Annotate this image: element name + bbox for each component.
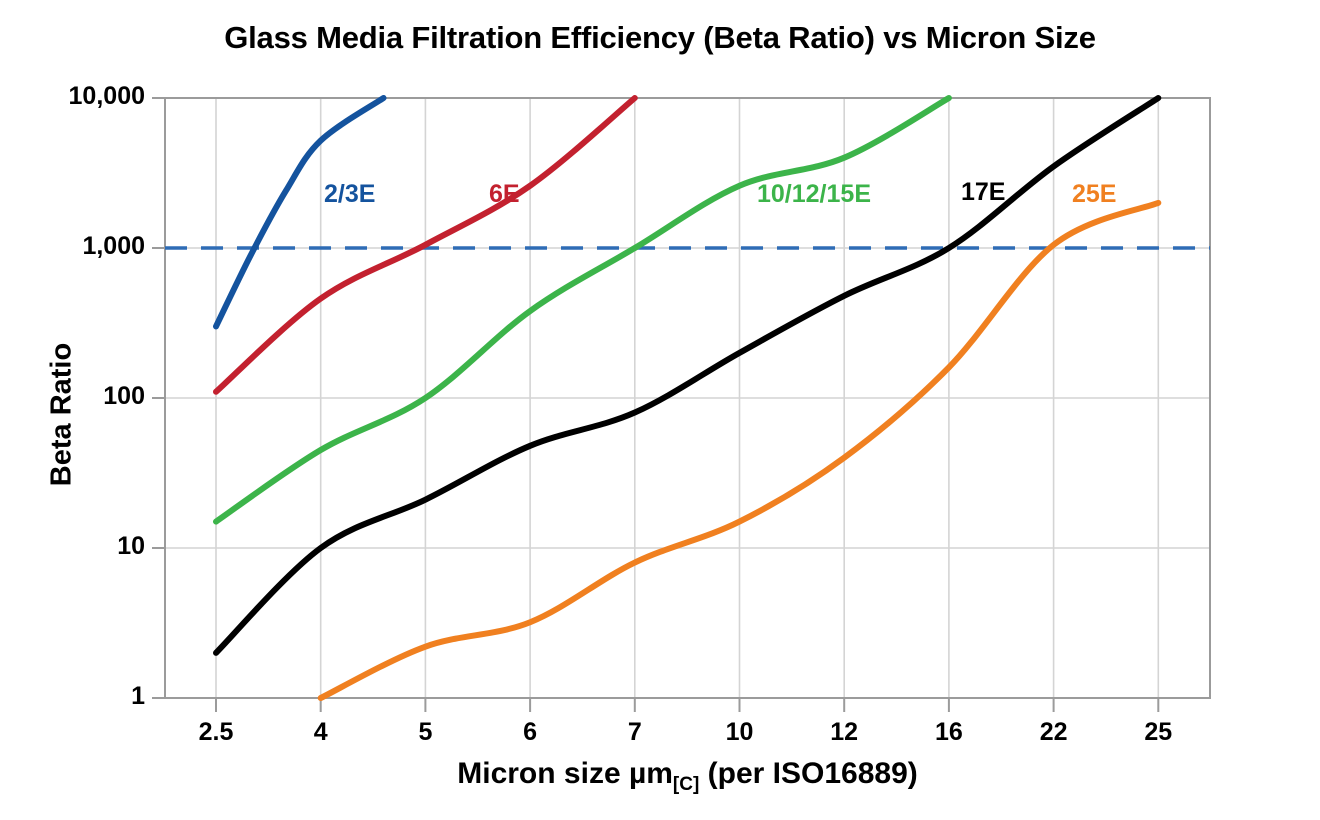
y-tick-label: 1 xyxy=(0,682,145,711)
series-label-2-3e: 2/3E xyxy=(324,180,375,209)
gridlines xyxy=(165,98,1210,698)
x-tick-label: 6 xyxy=(480,718,580,747)
y-tick-label: 10,000 xyxy=(0,82,145,111)
x-axis-title-suffix: (per ISO16889) xyxy=(699,757,917,790)
x-tick-label: 5 xyxy=(375,718,475,747)
series-label-17e: 17E xyxy=(961,178,1005,207)
series-label-25e: 25E xyxy=(1072,180,1116,209)
y-axis-title: Beta Ratio xyxy=(46,305,79,525)
x-tick-label: 25 xyxy=(1108,718,1208,747)
x-axis-title-prefix: Micron size µm xyxy=(457,757,673,790)
x-tick-label: 22 xyxy=(1004,718,1104,747)
x-tick-label: 2.5 xyxy=(166,718,266,747)
x-tick-label: 10 xyxy=(690,718,790,747)
x-tick-label: 7 xyxy=(585,718,685,747)
x-tick-label: 16 xyxy=(899,718,999,747)
series-label-10-12-15e: 10/12/15E xyxy=(757,180,871,209)
x-tick-label: 12 xyxy=(794,718,894,747)
plot-area xyxy=(0,0,1320,820)
x-axis-title: Micron size µm[C] (per ISO16889) xyxy=(165,757,1210,796)
x-axis-title-subscript: [C] xyxy=(673,774,699,795)
y-tick-label: 10 xyxy=(0,532,145,561)
series-label-6e: 6E xyxy=(489,180,520,209)
chart-container: Glass Media Filtration Efficiency (Beta … xyxy=(0,0,1320,820)
series-line-2-3e xyxy=(216,98,384,326)
y-tick-label: 1,000 xyxy=(0,232,145,261)
x-tick-label: 4 xyxy=(271,718,371,747)
